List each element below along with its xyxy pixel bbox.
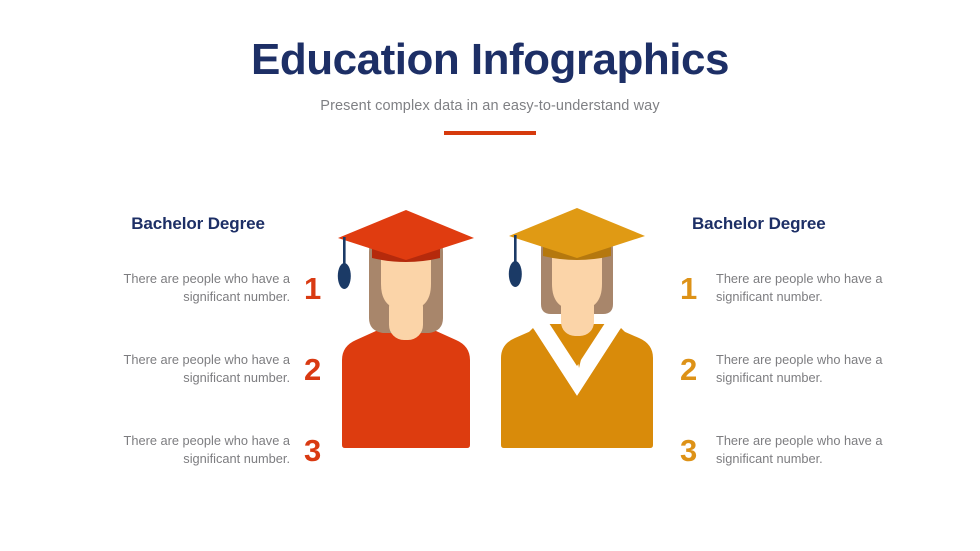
page-title: Education Infographics — [0, 36, 980, 84]
male-graduate-icon — [501, 208, 653, 448]
female-graduate-icon — [338, 210, 474, 448]
left-item-text-3: There are people who have a significant … — [68, 432, 304, 468]
right-item-number-1: 1 — [680, 273, 704, 304]
slide-canvas: Education Infographics Present complex d… — [0, 0, 980, 551]
right-item-number-3: 3 — [680, 435, 704, 466]
right-item-text-3: There are people who have a significant … — [716, 432, 940, 468]
female-mortarboard — [338, 210, 474, 260]
right-item-text-2: There are people who have a significant … — [716, 351, 940, 387]
divider-container — [0, 131, 980, 135]
list-item: 1 There are people who have a significan… — [680, 260, 940, 316]
slide-header: Education Infographics Present complex d… — [0, 36, 980, 135]
list-item: There are people who have a significant … — [68, 341, 328, 397]
list-item: There are people who have a significant … — [68, 422, 328, 478]
male-tassel-cord — [514, 235, 517, 263]
right-item-text-1: There are people who have a significant … — [716, 270, 940, 306]
list-item: There are people who have a significant … — [68, 260, 328, 316]
female-tassel-cord — [343, 237, 346, 265]
female-gown — [342, 326, 470, 448]
left-column: Bachelor Degree There are people who hav… — [68, 214, 328, 478]
female-tassel-bob — [338, 263, 351, 289]
left-item-text-2: There are people who have a significant … — [68, 351, 304, 387]
graduates-svg — [325, 200, 655, 460]
left-column-heading: Bachelor Degree — [68, 214, 328, 234]
list-item: 3 There are people who have a significan… — [680, 422, 940, 478]
list-item: 2 There are people who have a significan… — [680, 341, 940, 397]
male-tassel-bob — [509, 261, 522, 287]
page-subtitle: Present complex data in an easy-to-under… — [0, 98, 980, 114]
title-divider — [444, 131, 536, 135]
right-column: Bachelor Degree 1 There are people who h… — [680, 214, 940, 478]
male-mortarboard — [509, 208, 645, 258]
graduates-illustration — [325, 200, 655, 460]
right-item-number-2: 2 — [680, 354, 704, 385]
right-column-heading: Bachelor Degree — [680, 214, 940, 234]
left-item-text-1: There are people who have a significant … — [68, 270, 304, 306]
